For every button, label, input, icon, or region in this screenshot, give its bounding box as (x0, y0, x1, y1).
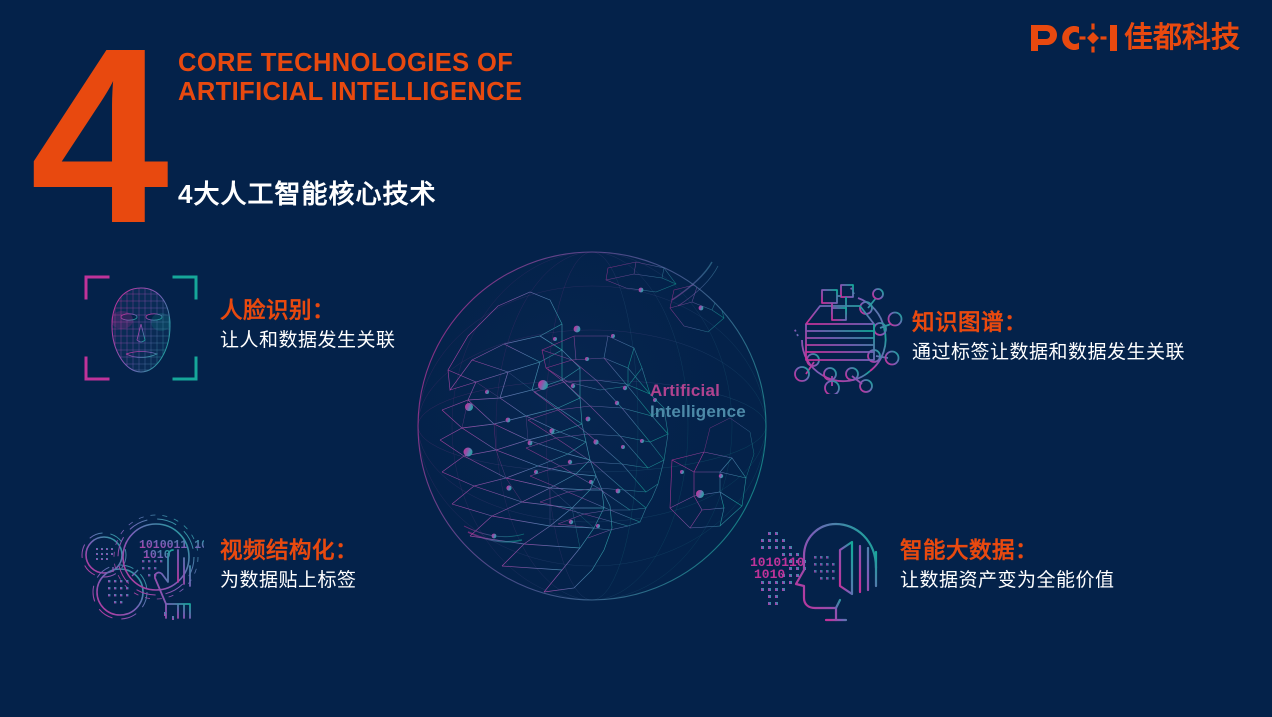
feature-desc: 为数据贴上标签 (220, 566, 358, 595)
feature-text-face-recognition: 人脸识别： 让人和数据发生关联 (220, 272, 396, 355)
headline-number: 4 (30, 11, 163, 261)
knowledge-graph-database-icon (792, 284, 912, 396)
feature-item-smart-big-data[interactable]: 1010110 1010 智能大 (748, 512, 1115, 624)
feature-item-knowledge-graph[interactable]: 知识图谱： 通过标签让数据和数据发生关联 (792, 284, 1185, 396)
feature-item-video-structuring[interactable]: 1010011 1010 1010 视频结构化： 为数据贴上标签 (80, 512, 358, 624)
binary-label-bigdata-line2: 1010 (754, 567, 785, 582)
brand-chinese-name: 佳都科技 (1124, 24, 1240, 53)
head-binary-data-icon: 1010110 1010 (748, 512, 888, 624)
video-structuring-hand-icon: 1010011 1010 1010 (80, 512, 200, 624)
feature-desc: 通过标签让数据和数据发生关联 (912, 338, 1185, 367)
binary-label-video-line2: 1010 (143, 549, 171, 562)
feature-text-knowledge-graph: 知识图谱： 通过标签让数据和数据发生关联 (912, 284, 1185, 367)
slide-canvas: 佳都科技 4 CORE TECHNOLOGIES OF ARTIFICIAL I… (0, 0, 1272, 717)
feature-text-video-structuring: 视频结构化： 为数据贴上标签 (220, 512, 358, 595)
globe-label-line2: Intelligence (650, 401, 746, 422)
face-mesh-scan-icon (82, 272, 202, 384)
headline-chinese: 4大人工智能核心技术 (178, 179, 436, 210)
globe-label-line1: Artificial (650, 380, 746, 401)
feature-item-face-recognition[interactable]: 人脸识别： 让人和数据发生关联 (82, 272, 396, 384)
wireframe-globe-icon (412, 240, 772, 612)
feature-desc: 让人和数据发生关联 (220, 326, 396, 355)
feature-text-smart-big-data: 智能大数据： 让数据资产变为全能价值 (900, 512, 1115, 595)
feature-title: 智能大数据： (900, 536, 1115, 566)
pci-target-logo-icon (1029, 23, 1117, 53)
feature-desc: 让数据资产变为全能价值 (900, 566, 1115, 595)
brand-logo: 佳都科技 (1029, 21, 1240, 55)
feature-title: 人脸识别： (220, 296, 396, 326)
globe-graphic: Artificial Intelligence (412, 240, 772, 612)
headline-block: 4 CORE TECHNOLOGIES OF ARTIFICIAL INTELL… (30, 33, 550, 223)
feature-title: 知识图谱： (912, 308, 1185, 338)
globe-label: Artificial Intelligence (650, 380, 746, 422)
feature-title: 视频结构化： (220, 536, 358, 566)
headline-english: CORE TECHNOLOGIES OF ARTIFICIAL INTELLIG… (178, 49, 538, 106)
